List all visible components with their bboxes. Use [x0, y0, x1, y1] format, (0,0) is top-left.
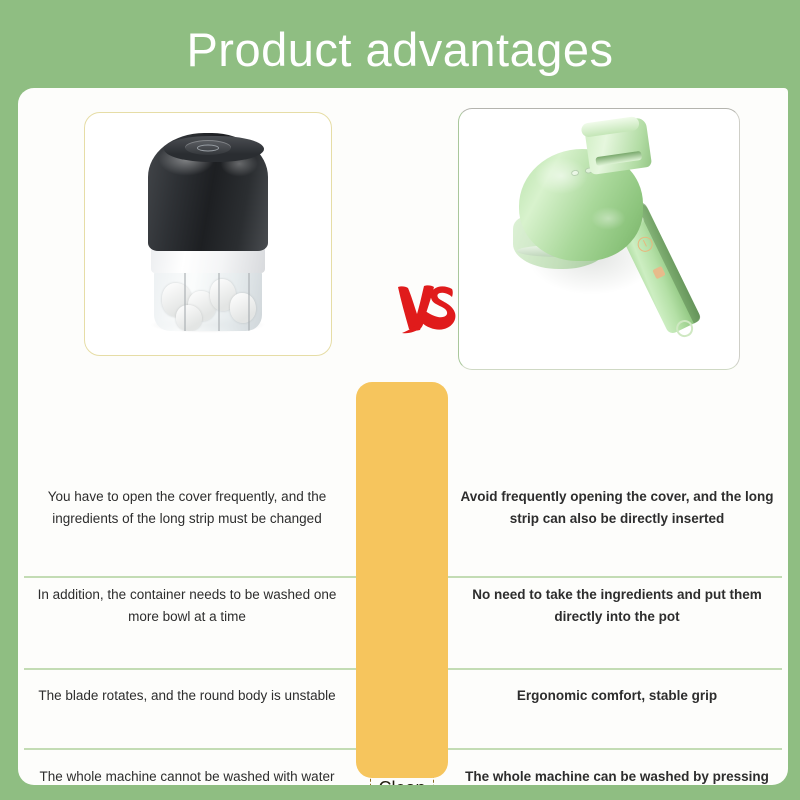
- row-3-right-text: Ergonomic comfort, stable grip: [517, 685, 717, 707]
- handle-edge-highlight: [635, 199, 702, 323]
- chopper-feeding-chute: [584, 117, 652, 175]
- row-1-right-text: Avoid frequently opening the cover, and …: [458, 486, 776, 530]
- row-2-left-text: In addition, the container needs to be w…: [30, 584, 344, 628]
- container-rib: [184, 269, 186, 331]
- button-glyph-icon: [197, 144, 219, 151]
- row-4-right-text: The whole machine can be washed by press…: [458, 766, 776, 785]
- row-3-left-text: The blade rotates, and the round body is…: [38, 685, 335, 707]
- chute-slot: [595, 151, 642, 166]
- row-1-left-text: You have to open the cover frequently, a…: [30, 486, 344, 530]
- container-rib: [218, 269, 220, 331]
- product-photo-right: [458, 108, 740, 370]
- row-3-right-cell: Ergonomic comfort, stable grip: [452, 668, 782, 724]
- row-2-right-text: No need to take the ingredients and put …: [458, 584, 776, 628]
- product-right-image: [459, 109, 739, 369]
- mini-garlic-chopper-illustration: [142, 127, 274, 337]
- row-3-left-cell: The blade rotates, and the round body is…: [24, 668, 350, 724]
- garlic-clove: [176, 305, 202, 331]
- infographic-page: Product advantages: [0, 0, 800, 800]
- power-button-icon: [185, 140, 231, 155]
- garlic-clove: [230, 293, 256, 323]
- row-4-left-cell: The whole machine cannot be washed with …: [24, 756, 350, 785]
- row-2-right-cell: No need to take the ingredients and put …: [452, 570, 782, 642]
- page-title: Product advantages: [0, 12, 800, 88]
- row-1-left-cell: You have to open the cover frequently, a…: [24, 476, 350, 540]
- vent-hole-icon: [571, 169, 580, 176]
- speed-button-icon: [652, 266, 665, 279]
- row-4-left-text: The whole machine cannot be washed with …: [30, 766, 344, 785]
- vs-brush-stroke-icon: [390, 273, 462, 345]
- row-1-right-cell: Avoid frequently opening the cover, and …: [452, 476, 782, 540]
- handheld-chopper-illustration: [483, 121, 733, 361]
- center-category-column: [356, 382, 448, 778]
- chopper-clear-container: [154, 269, 262, 331]
- chopper-black-lid: [148, 133, 268, 251]
- row-4-right-cell: The whole machine can be washed by press…: [452, 756, 782, 785]
- row-2-left-cell: In addition, the container needs to be w…: [24, 570, 350, 642]
- product-left-image: [85, 113, 331, 355]
- vs-badge: [390, 273, 462, 345]
- comparison-card: You have to open the cover frequently, a…: [18, 88, 788, 785]
- chute-lid: [581, 116, 640, 138]
- product-photo-left: [84, 112, 332, 356]
- container-rib: [248, 269, 250, 331]
